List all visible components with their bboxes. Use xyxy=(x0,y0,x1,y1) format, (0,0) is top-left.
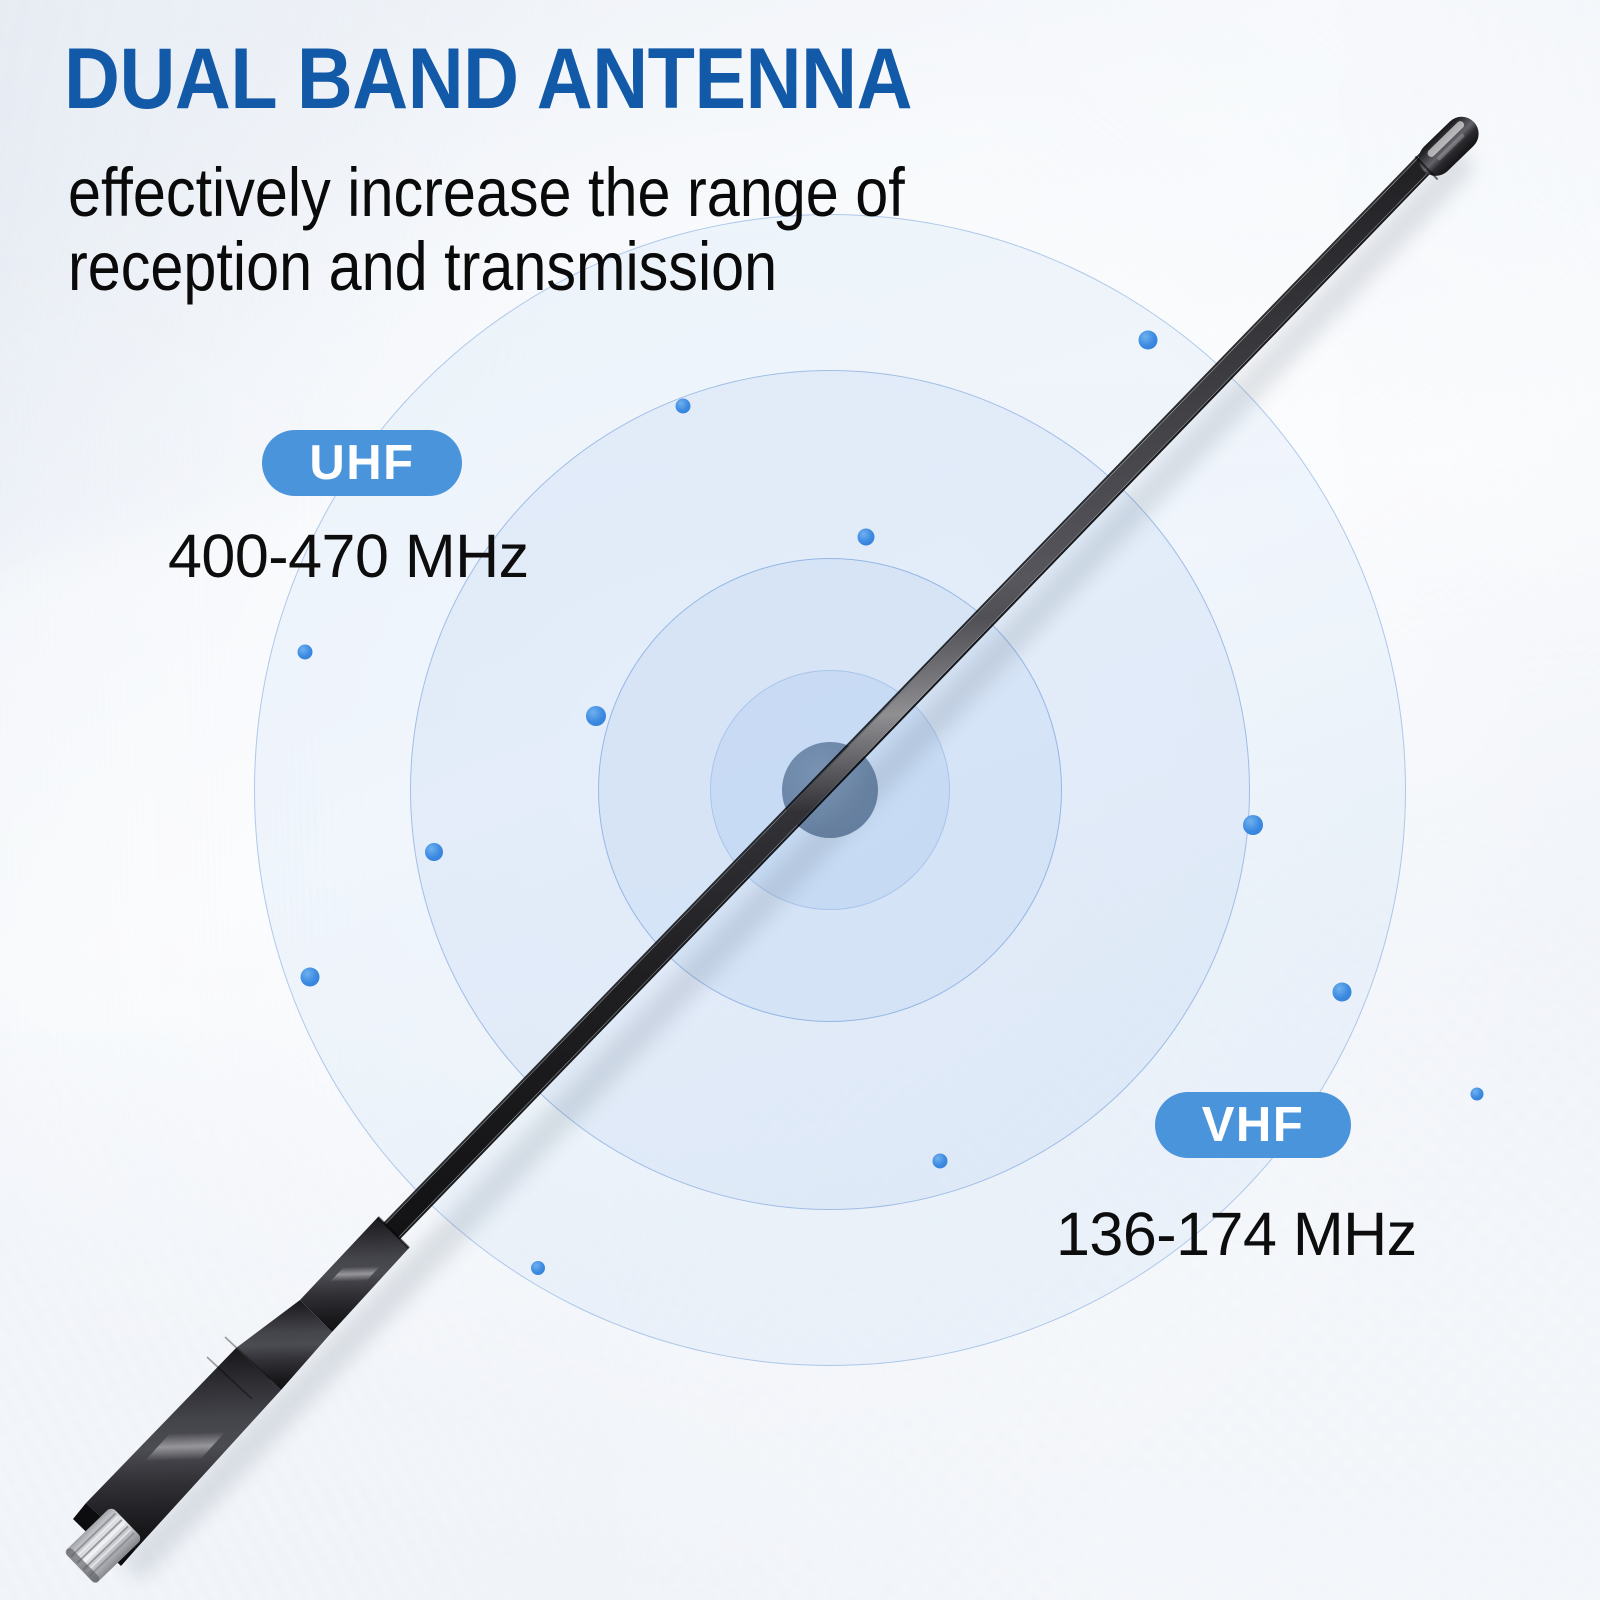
badge-vhf: VHF xyxy=(1155,1092,1351,1158)
signal-node-dot xyxy=(298,645,313,660)
signal-node-dot xyxy=(933,1154,948,1169)
signal-node-dot xyxy=(586,706,606,726)
signal-node-dot xyxy=(1243,815,1263,835)
signal-node-dot xyxy=(1471,1088,1484,1101)
product-marketing-image: DUAL BAND ANTENNA effectively increase t… xyxy=(0,0,1600,1600)
signal-node-dot xyxy=(858,529,875,546)
subtitle-line-2: reception and transmission xyxy=(68,232,777,301)
badge-uhf: UHF xyxy=(262,430,462,496)
subtitle-line-1: effectively increase the range of xyxy=(68,158,905,227)
signal-center-node xyxy=(782,742,878,838)
signal-node-dot xyxy=(425,843,443,861)
signal-node-dot xyxy=(1139,331,1158,350)
page-title: DUAL BAND ANTENNA xyxy=(64,36,912,124)
signal-node-dot xyxy=(531,1261,545,1275)
signal-node-dot xyxy=(301,968,320,987)
frequency-vhf: 136-174 MHz xyxy=(1056,1199,1417,1269)
frequency-uhf: 400-470 MHz xyxy=(168,521,529,591)
signal-node-dot xyxy=(1333,983,1352,1002)
signal-node-dot xyxy=(676,399,691,414)
